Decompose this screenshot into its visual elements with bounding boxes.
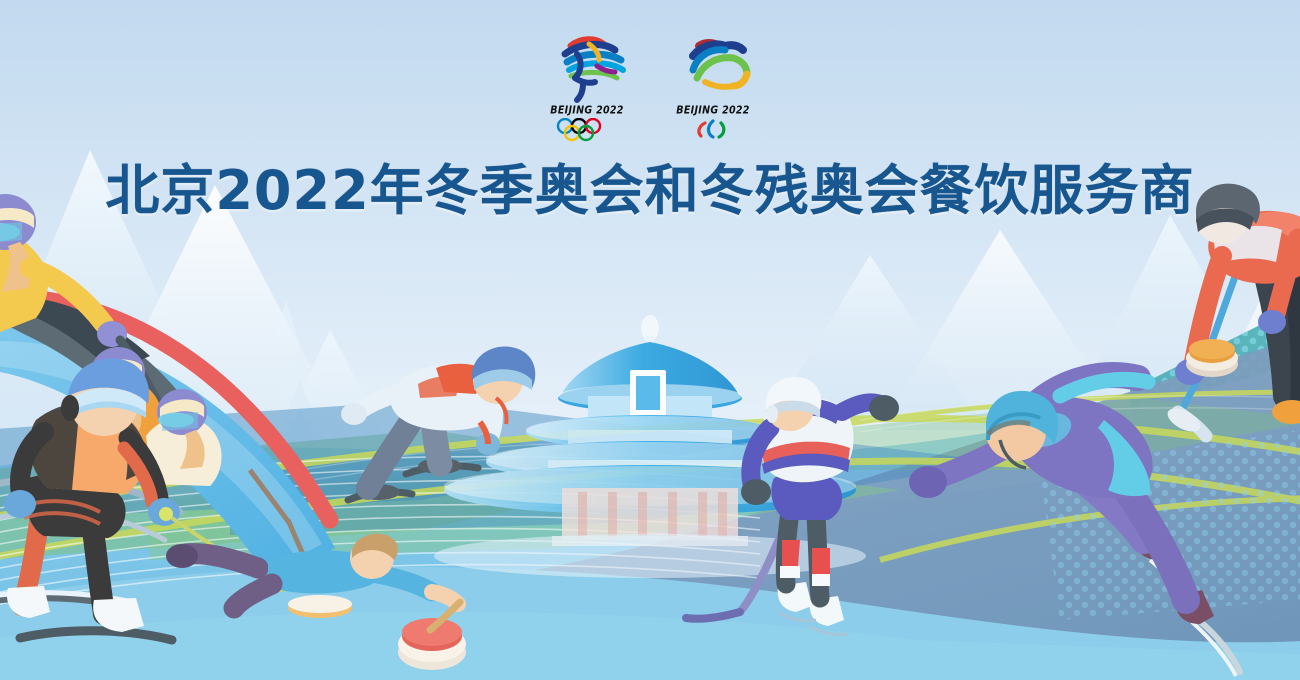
curling-stone — [398, 602, 466, 670]
logo-row: BEIJING 2022 — [0, 32, 1300, 138]
curling-stone-right — [1186, 339, 1238, 377]
olympic-rings-icon — [537, 118, 637, 142]
olympic-emblem-icon — [537, 32, 637, 104]
cross-country-skier — [341, 346, 535, 500]
olympic-banner: BEIJING 2022 — [0, 0, 1300, 680]
paralympic-wordmark: BEIJING 2022 — [663, 104, 763, 117]
paralympic-agitos-icon — [663, 118, 763, 142]
olympic-logo: BEIJING 2022 — [537, 32, 637, 138]
paralympic-logo: BEIJING 2022 — [663, 32, 763, 138]
ice-hockey-player — [686, 377, 899, 635]
olympic-wordmark: BEIJING 2022 — [537, 104, 637, 117]
banner-title: 北京2022年冬季奥会和冬残奥会餐饮服务商 — [0, 146, 1300, 225]
paralympic-emblem-icon — [663, 32, 763, 104]
